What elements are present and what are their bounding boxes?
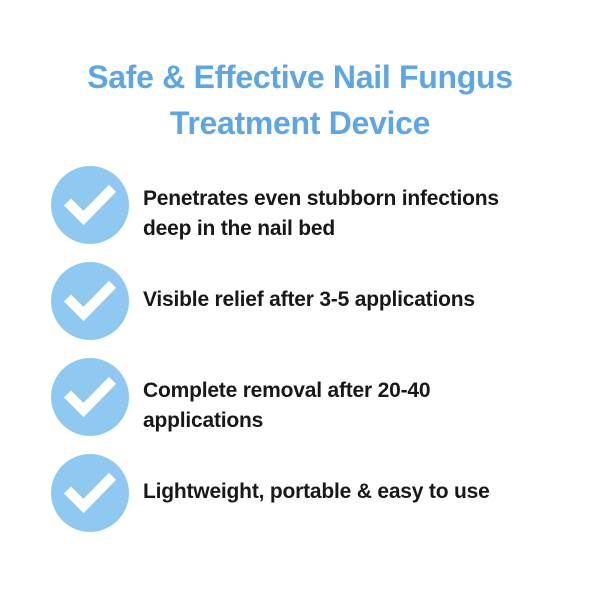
page-title-line-2: Treatment Device (50, 100, 550, 146)
benefit-item: Complete removal after 20-40 application… (51, 358, 561, 436)
benefit-item-label: Visible relief after 3-5 applications (129, 262, 561, 315)
benefit-item-label-line-1: Visible relief after 3-5 applications (143, 288, 475, 311)
benefit-list: Penetrates even stubborn infections deep… (51, 166, 561, 532)
benefit-item: Lightweight, portable & easy to use (51, 454, 561, 532)
page-title-line-1: Safe & Effective Nail Fungus (50, 54, 550, 100)
check-circle-icon (51, 358, 129, 436)
check-circle-icon (51, 166, 129, 244)
benefit-item-label: Complete removal after 20-40 application… (129, 358, 561, 436)
benefit-item: Penetrates even stubborn infections deep… (51, 166, 561, 244)
benefit-item: Visible relief after 3-5 applications (51, 262, 561, 340)
benefit-item-label-line-1: Lightweight, portable & easy to use (143, 480, 490, 503)
benefit-item-label-line-2: applications (143, 409, 263, 432)
check-circle-icon (51, 454, 129, 532)
benefit-item-label-line-1: Complete removal after 20-40 (143, 379, 430, 402)
benefit-item-label: Penetrates even stubborn infections deep… (129, 166, 561, 244)
check-circle-icon (51, 262, 129, 340)
page-title: Safe & Effective Nail Fungus Treatment D… (50, 54, 550, 146)
benefits-infographic: Safe & Effective Nail Fungus Treatment D… (0, 0, 600, 600)
benefit-item-label-line-1: Penetrates even stubborn infections (143, 187, 499, 210)
benefit-item-label-line-2: deep in the nail bed (143, 217, 335, 240)
benefit-item-label: Lightweight, portable & easy to use (129, 454, 561, 507)
